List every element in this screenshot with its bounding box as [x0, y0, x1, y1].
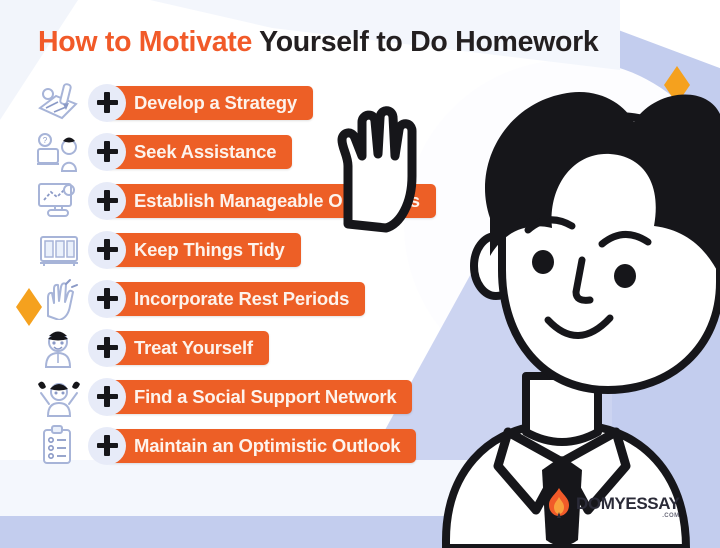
background-bottom-band	[0, 516, 720, 548]
logo-suffix-text: .COM	[662, 513, 679, 519]
tip-pill[interactable]: Maintain an Optimistic Outlook	[106, 429, 416, 463]
plus-icon[interactable]	[88, 378, 126, 416]
tip-pill[interactable]: Keep Things Tidy	[106, 233, 301, 267]
logo-wordmark: DOMYESSAY .COM	[576, 495, 679, 512]
page-title: How to Motivate Yourself to Do Homework	[38, 26, 598, 59]
tip-row[interactable]: Find a Social Support Network	[0, 372, 720, 421]
checklist-clipboard-icon	[34, 424, 86, 468]
plus-icon[interactable]	[88, 84, 126, 122]
plus-icon[interactable]	[88, 329, 126, 367]
title-accent-text: How to Motivate	[38, 26, 252, 58]
cheering-people-icon	[34, 375, 86, 419]
plus-icon[interactable]	[88, 427, 126, 465]
title-dark-text: Yourself to Do Homework	[252, 26, 598, 58]
plus-icon[interactable]	[88, 231, 126, 269]
tip-pill[interactable]: Incorporate Rest Periods	[106, 282, 365, 316]
whiteboard-goal-icon	[34, 179, 86, 223]
reward-person-icon	[34, 326, 86, 370]
hands-rest-icon	[34, 277, 86, 321]
flame-logo-icon	[548, 488, 570, 518]
plus-icon[interactable]	[88, 182, 126, 220]
tip-row[interactable]: Treat Yourself	[0, 323, 720, 372]
domyessay-logo[interactable]: DOMYESSAY .COM	[548, 488, 679, 518]
raised-hand-icon	[322, 104, 442, 234]
tip-pill[interactable]: Develop a Strategy	[106, 86, 313, 120]
lockers-tidy-icon	[34, 228, 86, 272]
infographic-canvas: How to Motivate Yourself to Do Homework …	[0, 0, 720, 548]
help-support-icon: ?	[34, 130, 86, 174]
tip-pill[interactable]: Seek Assistance	[106, 135, 292, 169]
tip-row[interactable]: Maintain an Optimistic Outlook	[0, 421, 720, 470]
tip-pill[interactable]: Find a Social Support Network	[106, 380, 412, 414]
plus-icon[interactable]	[88, 280, 126, 318]
tip-pill[interactable]: Treat Yourself	[106, 331, 269, 365]
strategy-plan-icon	[34, 81, 86, 125]
plus-icon[interactable]	[88, 133, 126, 171]
svg-text:?: ?	[43, 136, 48, 145]
logo-name-text: DOMYESSAY	[576, 494, 679, 513]
tip-row[interactable]: Incorporate Rest Periods	[0, 274, 720, 323]
